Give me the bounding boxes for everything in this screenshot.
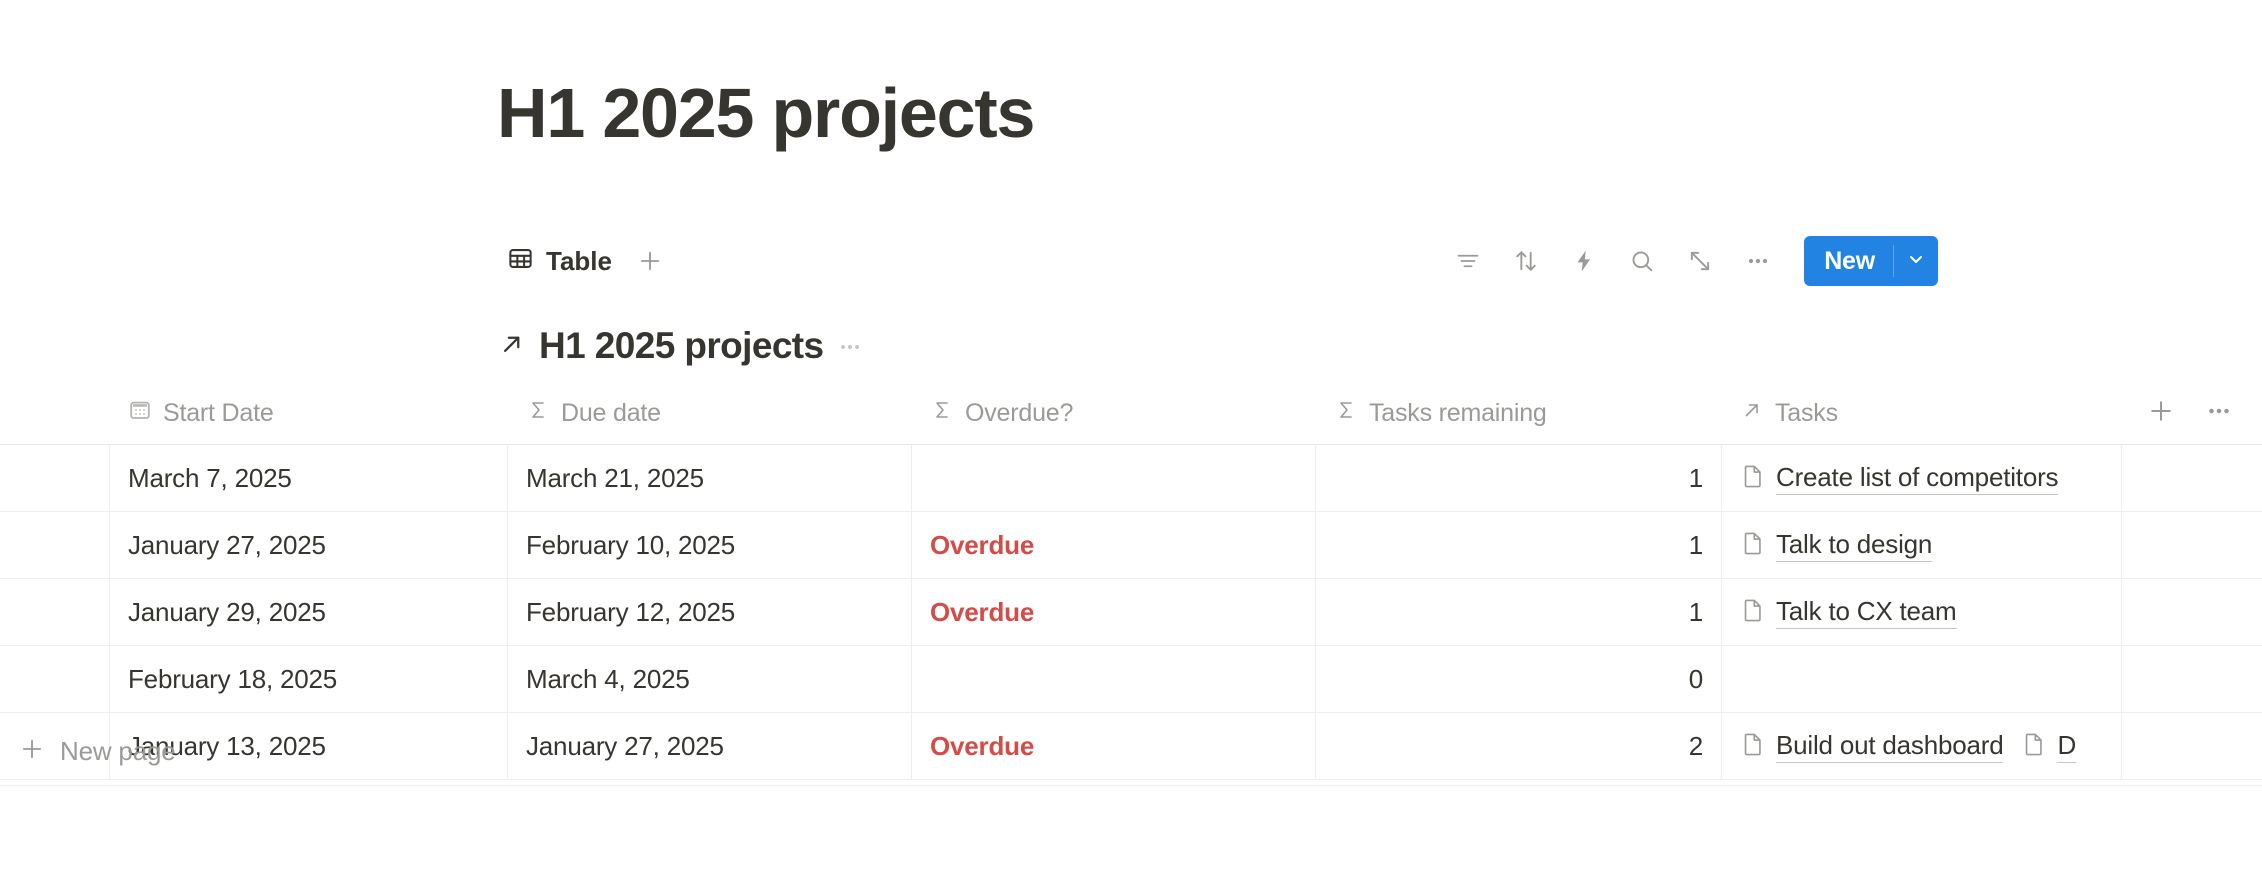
plus-icon bbox=[636, 247, 664, 275]
relation-chip[interactable]: Talk to CX team bbox=[1740, 596, 1957, 629]
relation-chip-list: Talk to CX team bbox=[1740, 596, 1957, 629]
new-button-group[interactable]: New bbox=[1804, 236, 1938, 286]
cell-start-date[interactable]: January 29, 2025 bbox=[110, 579, 508, 645]
cell-due-date[interactable]: March 4, 2025 bbox=[508, 646, 912, 712]
cell-tasks-remaining[interactable]: 1 bbox=[1316, 445, 1722, 511]
more-options-icon bbox=[1744, 247, 1772, 275]
cell-start-date-value: January 27, 2025 bbox=[128, 530, 326, 561]
relation-chip-label: Create list of competitors bbox=[1776, 462, 2058, 495]
page-icon bbox=[1740, 530, 1766, 561]
cell-tasks-relation[interactable]: Talk to CX team bbox=[1722, 579, 2122, 645]
cell-tasks-relation[interactable] bbox=[1722, 646, 2122, 712]
new-button-dropdown[interactable] bbox=[1894, 236, 1938, 286]
page-icon bbox=[1740, 463, 1766, 494]
cell-overdue-value: Overdue bbox=[930, 530, 1034, 561]
sort-button[interactable] bbox=[1504, 239, 1548, 283]
formula-sigma-icon bbox=[930, 398, 954, 429]
lightning-bolt-icon bbox=[1570, 247, 1598, 275]
cell-due-date-value: February 12, 2025 bbox=[526, 597, 735, 628]
relation-chip-label: Talk to design bbox=[1776, 529, 1932, 562]
cell-overdue[interactable]: Overdue bbox=[912, 579, 1316, 645]
open-in-new-icon bbox=[497, 329, 527, 364]
row-tail-cell bbox=[2122, 579, 2262, 645]
table-icon bbox=[507, 245, 534, 277]
page-icon bbox=[1740, 597, 1766, 628]
cell-tasks-remaining-value: 1 bbox=[1689, 463, 1703, 494]
column-header-due-date-label: Due date bbox=[561, 399, 661, 428]
tab-table-label: Table bbox=[546, 246, 612, 277]
cell-due-date-value: March 21, 2025 bbox=[526, 463, 704, 494]
database-title-row[interactable]: H1 2025 projects bbox=[497, 325, 864, 367]
database-options-button[interactable] bbox=[836, 327, 864, 366]
cell-tasks-remaining[interactable]: 1 bbox=[1316, 579, 1722, 645]
cell-tasks-remaining-value: 0 bbox=[1689, 664, 1703, 695]
table-row[interactable]: January 29, 2025February 12, 2025Overdue… bbox=[0, 579, 2262, 646]
column-header-tasks-label: Tasks bbox=[1775, 399, 1838, 428]
row-tail-cell bbox=[2122, 512, 2262, 578]
cell-due-date[interactable]: February 12, 2025 bbox=[508, 579, 912, 645]
cell-due-date[interactable]: February 10, 2025 bbox=[508, 512, 912, 578]
row-gutter-cell[interactable] bbox=[0, 579, 110, 645]
cell-overdue[interactable] bbox=[912, 646, 1316, 712]
automation-button[interactable] bbox=[1562, 239, 1606, 283]
column-header-start-date[interactable]: Start Date bbox=[110, 383, 508, 444]
search-icon bbox=[1628, 247, 1656, 275]
add-view-button[interactable] bbox=[628, 239, 672, 283]
database-title: H1 2025 projects bbox=[539, 325, 824, 367]
expand-arrows-icon bbox=[1686, 247, 1714, 275]
table-header-row: Start Date Due date Overdue? bbox=[0, 383, 2262, 445]
view-tabs: Table bbox=[497, 239, 672, 283]
cell-tasks-remaining-value: 1 bbox=[1689, 597, 1703, 628]
column-header-tasks-remaining-label: Tasks remaining bbox=[1369, 399, 1547, 428]
cell-start-date-value: March 7, 2025 bbox=[128, 463, 292, 494]
cell-start-date[interactable]: March 7, 2025 bbox=[110, 445, 508, 511]
cell-due-date-value: February 10, 2025 bbox=[526, 530, 735, 561]
column-header-tasks[interactable]: Tasks bbox=[1722, 383, 2122, 444]
relation-chip-list: Talk to design bbox=[1740, 529, 1932, 562]
notion-database-page: H1 2025 projects Table bbox=[0, 0, 2262, 886]
cell-overdue[interactable]: Overdue bbox=[912, 512, 1316, 578]
cell-start-date-value: January 29, 2025 bbox=[128, 597, 326, 628]
sort-icon bbox=[1512, 247, 1540, 275]
page-title[interactable]: H1 2025 projects bbox=[497, 78, 1034, 148]
row-gutter-cell[interactable] bbox=[0, 445, 110, 511]
header-gutter bbox=[0, 383, 110, 444]
cell-tasks-remaining[interactable]: 0 bbox=[1316, 646, 1722, 712]
filter-icon bbox=[1454, 247, 1482, 275]
cell-tasks-remaining-value: 1 bbox=[1689, 530, 1703, 561]
new-page-label: New page bbox=[60, 736, 175, 767]
cell-tasks-relation[interactable]: Create list of competitors bbox=[1722, 445, 2122, 511]
cell-start-date[interactable]: February 18, 2025 bbox=[110, 646, 508, 712]
view-toolbar-actions: New bbox=[1446, 236, 1938, 286]
view-toolbar: Table bbox=[497, 228, 1938, 294]
formula-sigma-icon bbox=[526, 398, 550, 429]
search-button[interactable] bbox=[1620, 239, 1664, 283]
relation-chip[interactable]: Talk to design bbox=[1740, 529, 1932, 562]
cell-tasks-relation[interactable]: Talk to design bbox=[1722, 512, 2122, 578]
table-row[interactable]: March 7, 2025March 21, 20251Create list … bbox=[0, 445, 2262, 512]
cell-start-date-value: February 18, 2025 bbox=[128, 664, 337, 695]
column-header-due-date[interactable]: Due date bbox=[508, 383, 912, 444]
cell-tasks-remaining[interactable]: 1 bbox=[1316, 512, 1722, 578]
cell-overdue[interactable] bbox=[912, 445, 1316, 511]
column-header-start-date-label: Start Date bbox=[163, 399, 274, 428]
tab-table[interactable]: Table bbox=[497, 239, 622, 283]
column-header-tasks-remaining[interactable]: Tasks remaining bbox=[1316, 383, 1722, 444]
chevron-down-icon bbox=[1904, 247, 1928, 276]
new-page-button[interactable]: New page bbox=[0, 718, 2262, 786]
plus-icon bbox=[18, 735, 46, 768]
new-button[interactable]: New bbox=[1804, 236, 1893, 286]
cell-overdue-value: Overdue bbox=[930, 597, 1034, 628]
relation-chip[interactable]: Create list of competitors bbox=[1740, 462, 2058, 495]
relation-chip-label: Talk to CX team bbox=[1776, 596, 1957, 629]
relation-chip-list: Create list of competitors bbox=[1740, 462, 2058, 495]
table-row[interactable]: January 27, 2025February 10, 2025Overdue… bbox=[0, 512, 2262, 579]
calendar-icon bbox=[128, 398, 152, 429]
table-row[interactable]: February 18, 2025March 4, 20250 bbox=[0, 646, 2262, 713]
add-column-button[interactable] bbox=[2146, 396, 2176, 431]
more-options-button[interactable] bbox=[1736, 239, 1780, 283]
cell-due-date-value: March 4, 2025 bbox=[526, 664, 690, 695]
column-header-overdue-label: Overdue? bbox=[965, 399, 1073, 428]
filter-button[interactable] bbox=[1446, 239, 1490, 283]
table-header-actions bbox=[2122, 383, 2262, 444]
column-header-overdue[interactable]: Overdue? bbox=[912, 383, 1316, 444]
row-gutter-cell[interactable] bbox=[0, 512, 110, 578]
row-tail-cell bbox=[2122, 646, 2262, 712]
row-tail-cell bbox=[2122, 445, 2262, 511]
formula-sigma-icon bbox=[1334, 398, 1358, 429]
row-gutter-cell[interactable] bbox=[0, 646, 110, 712]
cell-due-date[interactable]: March 21, 2025 bbox=[508, 445, 912, 511]
expand-button[interactable] bbox=[1678, 239, 1722, 283]
cell-start-date[interactable]: January 27, 2025 bbox=[110, 512, 508, 578]
relation-arrow-icon bbox=[1740, 398, 1764, 429]
table-options-button[interactable] bbox=[2204, 396, 2234, 431]
